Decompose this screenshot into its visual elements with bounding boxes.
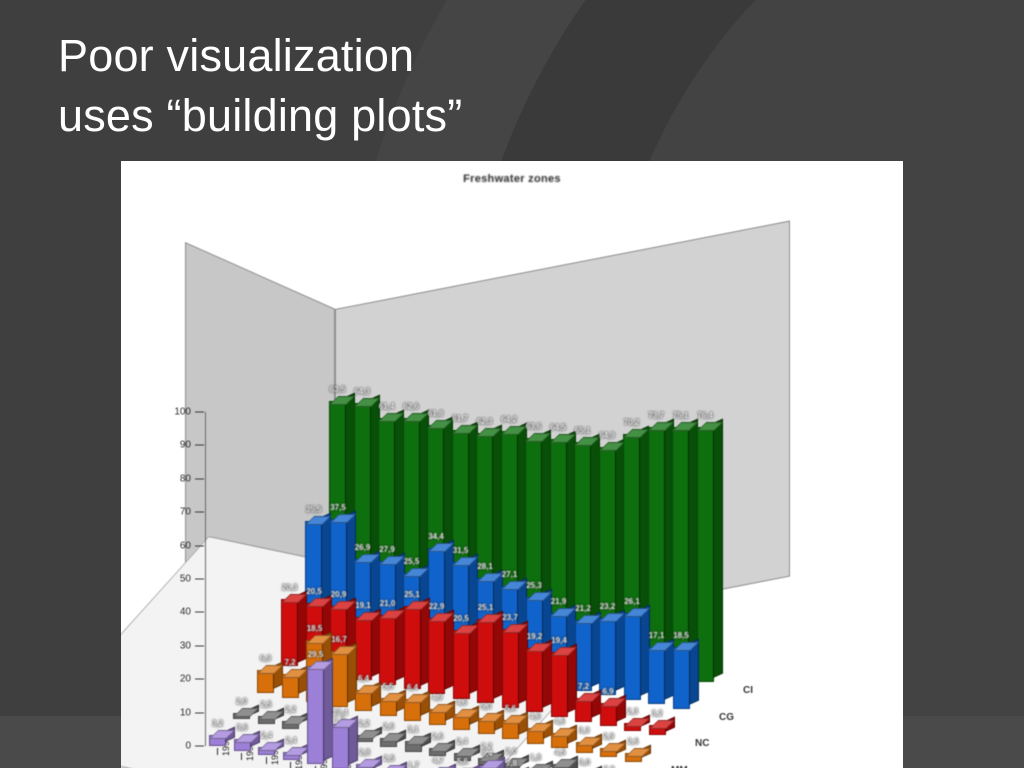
- chart-bar: 2,2: [282, 721, 299, 728]
- bar-front-face: [453, 630, 470, 698]
- y-axis-tick-label: 80: [180, 473, 191, 484]
- y-axis-tick-label: 60: [180, 540, 191, 551]
- bar-value-label: 76,4: [697, 411, 713, 420]
- bar-front-face: [526, 648, 543, 712]
- slide-canvas: Poor visualization uses “building plots”…: [0, 0, 1024, 768]
- bar-value-label: 6,4: [358, 674, 369, 683]
- bar-value-label: 4,6: [554, 717, 565, 726]
- y-axis-tick-label: 10: [180, 707, 191, 718]
- bar-front-face: [428, 618, 445, 694]
- chart-title: Freshwater zones: [121, 173, 903, 185]
- chart-bar: 18,5: [673, 647, 690, 709]
- bar-front-face: [331, 651, 348, 707]
- chart-bar: 20,3: [281, 599, 298, 667]
- y-axis-tick-label: 20: [180, 674, 191, 685]
- x-axis-tick-mark: [241, 753, 242, 760]
- chart-plot-area: 0102030405060708090100 19901991199219931…: [149, 206, 875, 751]
- y-axis-line: [205, 412, 206, 746]
- bar-value-label: 23,7: [502, 613, 518, 622]
- bar-value-label: 25,5: [404, 557, 420, 566]
- y-axis-tick-mark: [195, 712, 204, 713]
- bar-value-label: 2,4: [285, 736, 296, 745]
- chart-bar: 19,1: [355, 617, 372, 681]
- bar-front-face: [307, 666, 324, 765]
- bar-front-face: [624, 613, 641, 700]
- bar-value-label: 6,9: [602, 687, 613, 696]
- bar-value-label: 23,2: [600, 602, 616, 611]
- chart-bar: 25,1: [477, 619, 494, 703]
- bar-value-label: 27,9: [379, 545, 395, 554]
- chart-bar: 2,5: [258, 716, 275, 724]
- chart-bar: 25,1: [404, 606, 421, 690]
- chart-bar: 21,2: [575, 620, 592, 691]
- y-axis-tick-label: 90: [180, 440, 191, 451]
- bar-value-label: 25,1: [478, 603, 494, 612]
- chart-bar: 20,5: [453, 630, 470, 698]
- bar-value-label: 4,6: [529, 712, 540, 721]
- y-axis-tick-mark: [195, 412, 204, 413]
- bar-value-label: 5,5: [382, 682, 393, 691]
- y-axis-tick-mark: [195, 512, 204, 513]
- bar-value-label: 63,5: [330, 385, 346, 394]
- bar-value-label: 20,5: [453, 614, 469, 623]
- bar-value-label: 6,9: [260, 654, 271, 663]
- bar-value-label: 26,9: [355, 543, 371, 552]
- bar-value-label: 4,5: [554, 748, 565, 757]
- bar-front-face: [281, 599, 298, 667]
- bar-value-label: 2,4: [261, 731, 272, 740]
- chart-bar: 2,2: [356, 735, 373, 742]
- bar-value-label: 19,2: [527, 632, 543, 641]
- x-axis-tick-mark: [266, 757, 267, 764]
- chart-bar: 13,4: [332, 724, 349, 768]
- chart-bar: 6,4: [404, 699, 421, 720]
- chart-bar: 4,5: [552, 764, 569, 768]
- chart-bar: 75,1: [672, 427, 689, 678]
- bar-value-label: 73,7: [648, 411, 664, 420]
- bar-value-label: 22,9: [429, 602, 445, 611]
- chart-bar: 2,0: [233, 713, 250, 720]
- bar-front-face: [697, 427, 714, 682]
- bar-value-label: 61,4: [379, 402, 395, 411]
- chart-bar: 26,1: [624, 613, 641, 700]
- bar-value-label: 1,7: [408, 761, 419, 768]
- chart-bar: 3,2: [649, 725, 666, 736]
- bar-front-face: [477, 619, 494, 703]
- bar-value-label: 64,2: [501, 415, 517, 424]
- y-axis-tick-mark: [195, 612, 204, 613]
- bar-value-label: 19,4: [551, 636, 567, 645]
- bar-value-label: 64,9: [599, 431, 615, 440]
- bar-value-label: 20,5: [306, 587, 322, 596]
- bar-value-label: 18,5: [307, 624, 323, 633]
- bar-value-label: 2,2: [358, 719, 369, 728]
- bar-value-label: 20,3: [282, 583, 298, 592]
- y-axis-tick-mark: [195, 478, 204, 479]
- bar-value-label: 28,1: [477, 562, 493, 571]
- y-axis-tick-mark: [195, 679, 204, 680]
- chart-bar: 4,6: [527, 728, 544, 743]
- bar-value-label: 2,9: [603, 732, 614, 741]
- bar-value-label: 16,7: [331, 635, 347, 644]
- bar-value-label: 31,5: [453, 546, 469, 555]
- z-axis-category-label: NC: [695, 738, 709, 749]
- bar-value-label: 70,2: [624, 418, 640, 427]
- bar-front-face: [379, 615, 396, 685]
- y-axis-tick-mark: [195, 645, 204, 646]
- bar-value-label: 5,0: [480, 702, 491, 711]
- bar-value-label: 21,0: [380, 599, 396, 608]
- chart-image-panel: Freshwater zones 0102030405060708090100 …: [121, 161, 903, 768]
- bar-front-face: [599, 618, 616, 695]
- z-axis-category-label: CG: [719, 712, 734, 723]
- chart-bar: 4,6: [453, 714, 470, 729]
- chart-bar: 23,7: [502, 629, 519, 708]
- bar-value-label: 9,4: [481, 749, 492, 758]
- chart-bar: 17,1: [648, 647, 665, 704]
- bar-value-label: 63,6: [526, 422, 542, 431]
- chart-bar: 16,7: [331, 651, 348, 707]
- bar-front-face: [355, 617, 372, 681]
- bar-value-label: 37,5: [330, 503, 346, 512]
- bar-value-label: 2,5: [260, 700, 271, 709]
- bar-value-label: 6,4: [407, 683, 418, 692]
- bar-front-face: [404, 606, 421, 690]
- chart-bar: 5,6: [502, 720, 519, 739]
- chart-bar: 7,2: [575, 698, 592, 722]
- bar-value-label: 1,8: [530, 753, 541, 762]
- bar-value-label: 2,0: [505, 747, 516, 756]
- y-axis-tick-mark: [195, 746, 204, 747]
- chart-bar: 29,5: [307, 666, 324, 765]
- chart-bar: 6,9: [257, 670, 274, 693]
- chart-bar: 19,4: [551, 652, 568, 717]
- bar-value-label: 34,4: [428, 532, 444, 541]
- bar-value-label: 4,9: [431, 693, 442, 702]
- bar-value-label: 2,8: [359, 748, 370, 757]
- chart-bar: 2,3: [624, 723, 641, 731]
- bar-value-label: 2,4: [456, 737, 467, 746]
- bar-value-label: 35,5: [306, 505, 322, 514]
- bar-value-label: 2,6: [383, 722, 394, 731]
- chart-bar: 4,9: [429, 709, 446, 725]
- bar-value-label: 2,2: [285, 705, 296, 714]
- bar-value-label: 62,6: [403, 402, 419, 411]
- bar-value-label: 27,1: [502, 570, 518, 579]
- bar-value-label: 64,5: [550, 423, 566, 432]
- z-axis-category-label: CI: [743, 685, 753, 696]
- bar-value-label: 7,2: [578, 682, 589, 691]
- bar-value-label: 3,1: [407, 725, 418, 734]
- bar-value-label: 2,3: [627, 707, 638, 716]
- chart-bar: 3,1: [405, 741, 422, 751]
- x-axis-tick-mark: [217, 748, 218, 755]
- bar-value-label: 21,9: [551, 597, 567, 606]
- bar-value-label: 20,9: [331, 590, 347, 599]
- y-axis-tick-mark: [195, 445, 204, 446]
- bar-front-face: [551, 652, 568, 717]
- chart-bar: 3,3: [576, 742, 593, 753]
- x-axis-tick-mark: [290, 762, 291, 768]
- y-axis-tick-label: 100: [174, 407, 191, 418]
- y-axis-tick-label: 0: [185, 741, 191, 752]
- bar-value-label: 61,8: [428, 409, 444, 418]
- bar-value-label: 64,3: [354, 387, 370, 396]
- bar-value-label: 3,6: [236, 723, 247, 732]
- chart-bar: 5,0: [478, 718, 495, 735]
- chart-bar: 21,0: [379, 615, 396, 685]
- bar-front-face: [332, 724, 349, 768]
- z-axis-category-label: MM: [671, 765, 688, 768]
- bar-front-face: [673, 647, 690, 709]
- bar-value-label: 21,2: [575, 604, 591, 613]
- chart-bar: 23,2: [599, 618, 616, 695]
- chart-bar: 76,4: [697, 427, 714, 682]
- bar-value-label: 3,0: [579, 758, 590, 767]
- bar-value-label: 61,7: [452, 414, 468, 423]
- chart-bar: 19,2: [526, 648, 543, 712]
- chart-bar: 2,6: [380, 738, 397, 747]
- bar-value-label: 2,6: [432, 732, 443, 741]
- bar-value-label: 75,1: [673, 411, 689, 420]
- y-axis-tick-mark: [195, 545, 204, 546]
- bar-value-label: 2,0: [236, 697, 247, 706]
- y-axis-tick-label: 40: [180, 607, 191, 618]
- chart-bar: 2,8: [356, 764, 373, 768]
- chart-bar: 2,9: [600, 748, 617, 758]
- chart-bar: 6,9: [600, 703, 617, 726]
- chart-bar: 22,9: [428, 618, 445, 694]
- bar-front-face: [575, 620, 592, 691]
- chart-bar: 3,6: [234, 739, 251, 751]
- chart-bar: 4,6: [551, 733, 568, 748]
- bar-value-label: 26,1: [624, 597, 640, 606]
- slide-title: Poor visualization uses “building plots”: [58, 26, 678, 146]
- bar-value-label: 7,8: [506, 759, 517, 768]
- bar-value-label: 29,5: [308, 650, 324, 659]
- chart-y-axis: 0102030405060708090100: [149, 206, 197, 756]
- bar-front-face: [648, 647, 665, 704]
- bar-value-label: 62,3: [477, 417, 493, 426]
- bar-value-label: 2,6: [627, 737, 638, 746]
- bar-value-label: 3,2: [212, 719, 223, 728]
- bar-value-label: 3,3: [578, 726, 589, 735]
- y-axis-tick-label: 50: [180, 574, 191, 585]
- y-axis-tick-mark: [195, 579, 204, 580]
- bar-value-label: 25,1: [404, 590, 420, 599]
- bar-value-label: 25,3: [526, 581, 542, 590]
- chart-bar: 2,4: [283, 752, 300, 760]
- bar-value-label: 13,4: [332, 708, 348, 717]
- bar-front-face: [672, 427, 689, 678]
- bar-side-face: [713, 419, 723, 679]
- bar-value-label: 2,5: [383, 754, 394, 763]
- bar-value-label: 7,2: [284, 658, 295, 667]
- chart-bar: 5,5: [380, 698, 397, 716]
- bar-value-label: 5,6: [457, 757, 468, 766]
- bar-value-label: 5,6: [505, 704, 516, 713]
- chart-bar: 3,2: [209, 735, 226, 746]
- chart-bar: 2,6: [625, 753, 642, 762]
- bar-value-label: 17,1: [649, 631, 665, 640]
- bar-value-label: 65,1: [575, 426, 591, 435]
- bar-value-label: 3,2: [651, 709, 662, 718]
- chart-bar: 6,4: [355, 690, 372, 711]
- bar-value-label: 4,6: [456, 698, 467, 707]
- chart-bar: 7,2: [282, 674, 299, 698]
- y-axis-tick-label: 70: [180, 507, 191, 518]
- bar-value-label: 19,1: [355, 601, 371, 610]
- bar-front-face: [502, 629, 519, 708]
- y-axis-tick-label: 30: [180, 640, 191, 651]
- chart-bar: 2,4: [258, 747, 275, 755]
- bar-value-label: 4,7: [432, 756, 443, 765]
- bar-value-label: 18,5: [673, 631, 689, 640]
